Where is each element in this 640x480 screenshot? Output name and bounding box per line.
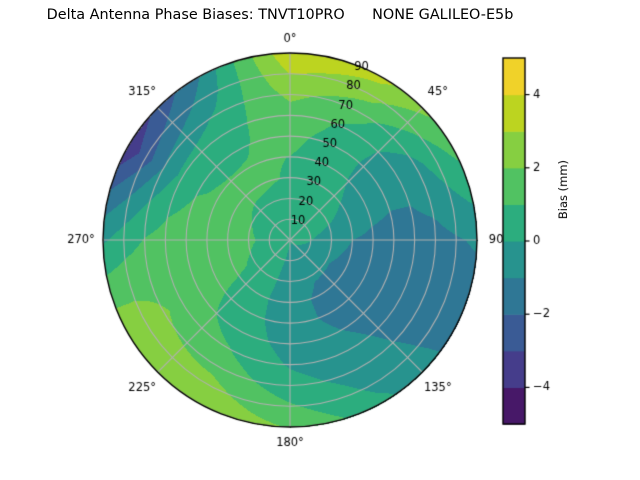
- polar-contour-plot: [0, 0, 640, 480]
- colorbar-axis-label: Bias (mm): [556, 160, 570, 219]
- figure-canvas-container: Delta Antenna Phase Biases: TNVT10PRO NO…: [0, 0, 640, 480]
- page-title: Delta Antenna Phase Biases: TNVT10PRO NO…: [0, 7, 560, 23]
